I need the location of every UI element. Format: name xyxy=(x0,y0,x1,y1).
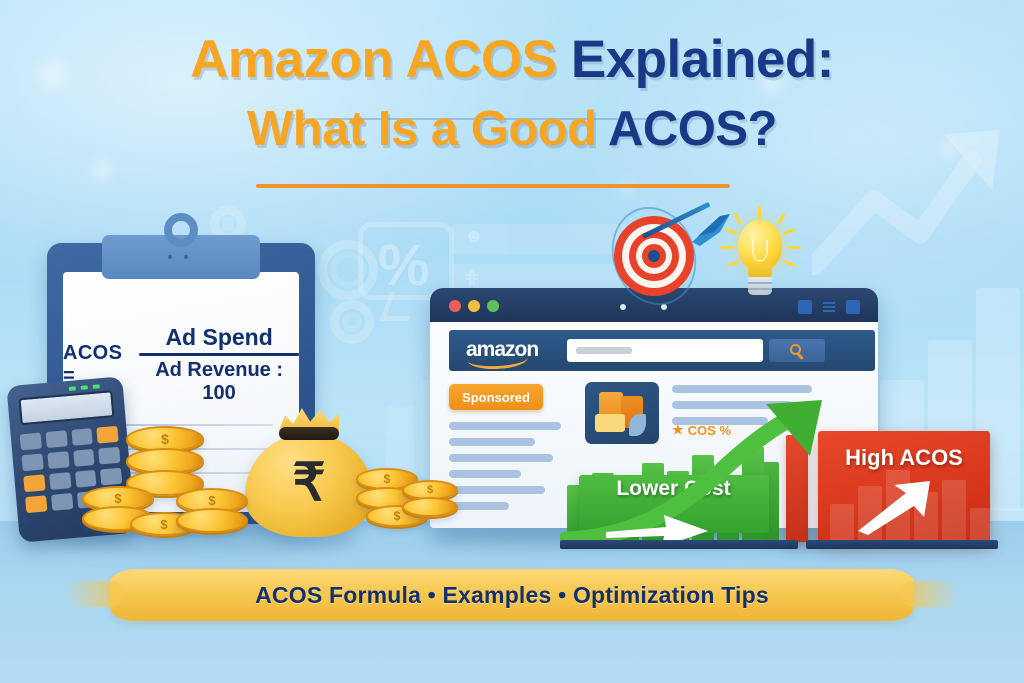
coin-icon xyxy=(176,508,248,533)
menu-glyph xyxy=(822,300,836,314)
placeholder-text-line xyxy=(449,454,553,462)
placeholder-text-line xyxy=(449,470,521,478)
calculator-key xyxy=(100,468,122,486)
bulb-filament xyxy=(752,240,768,262)
calculator-key xyxy=(25,495,47,513)
amazon-header: amazon xyxy=(449,330,875,371)
search-icon xyxy=(790,344,801,355)
calculator-key xyxy=(20,433,42,451)
calculator-key xyxy=(97,426,119,444)
formula-fraction: Ad Spend Ad Revenue : 100 xyxy=(139,324,299,405)
search-button[interactable] xyxy=(769,339,825,362)
money-bag-icon: ₹ xyxy=(245,405,373,537)
maximize-icon[interactable] xyxy=(487,300,499,312)
target-bullseye xyxy=(648,250,660,262)
lightbulb-icon xyxy=(729,220,791,304)
percent-symbol-motif: % xyxy=(378,232,430,299)
bottom-banner: ACOS Formula • Examples • Optimization T… xyxy=(110,569,914,621)
poster-canvas: % ☻ ⋕ Amazon ACOS Explained: What Is a G… xyxy=(0,0,1024,683)
high-acos-label: High ACOS xyxy=(818,445,990,471)
headline-line1-rest: Explained: xyxy=(571,30,834,89)
toolbar-menu-icon[interactable] xyxy=(822,300,836,314)
calculator-key xyxy=(47,451,69,469)
calculator-key xyxy=(23,474,45,492)
close-icon[interactable] xyxy=(449,300,461,312)
search-placeholder-bar xyxy=(576,347,632,354)
calculator-key xyxy=(75,470,97,488)
banner-text: ACOS Formula • Examples • Optimization T… xyxy=(110,569,914,621)
bulb-base xyxy=(748,277,772,295)
headline-block: Amazon ACOS Explained: What Is a Good AC… xyxy=(0,32,1024,155)
red-inner-bar xyxy=(942,480,966,542)
bokeh-dot xyxy=(92,160,112,180)
avatar-glyph-motif: ☻ xyxy=(464,226,484,248)
headline-underline xyxy=(256,184,730,188)
toolbar-square-icon[interactable] xyxy=(846,300,860,314)
calculator-key xyxy=(71,428,93,446)
bulb-ray xyxy=(720,246,734,249)
calculator-key xyxy=(21,453,43,471)
amazon-smile-icon xyxy=(468,357,528,370)
headline-line-1: Amazon ACOS Explained: xyxy=(0,32,1024,88)
headline-line2-highlight: What Is a Good xyxy=(247,102,597,156)
search-input[interactable] xyxy=(567,339,763,362)
placeholder-text-line xyxy=(449,502,509,510)
clipboard-ring xyxy=(164,213,198,247)
placeholder-text-line xyxy=(672,385,812,393)
calculator-led xyxy=(81,385,88,390)
formula-numerator: Ad Spend xyxy=(139,324,299,353)
calculator-key xyxy=(49,472,71,490)
clamp-dot xyxy=(168,255,172,259)
calculator-display xyxy=(18,390,114,425)
titlebar-dot xyxy=(620,304,626,310)
high-acos-arrow-icon xyxy=(854,479,934,535)
toolbar-square-icon[interactable] xyxy=(798,300,812,314)
placeholder-text-line xyxy=(449,438,535,446)
red-inner-bar xyxy=(970,508,990,542)
placeholder-text-line xyxy=(449,422,561,430)
headline-line1-highlight: Amazon ACOS xyxy=(190,30,557,89)
minimize-icon[interactable] xyxy=(468,300,480,312)
clamp-dot xyxy=(184,255,188,259)
calculator-key xyxy=(73,449,95,467)
chart-plinth xyxy=(806,540,998,549)
calculator-key xyxy=(45,430,67,448)
money-bag-tie xyxy=(279,427,339,440)
sponsored-badge: Sponsored xyxy=(449,384,543,410)
bulb-ray xyxy=(727,260,740,268)
calculator-key xyxy=(51,493,73,511)
bulb-ray xyxy=(787,246,801,249)
headline-line-2: What Is a Good ACOS? xyxy=(0,104,1024,155)
coin-icon xyxy=(402,497,458,517)
placeholder-text-line xyxy=(449,486,545,494)
high-acos-panel: High ACOS xyxy=(818,431,990,542)
gear-icon xyxy=(318,240,378,300)
currency-symbol: ₹ xyxy=(245,457,373,509)
sliders-glyph-motif: ⋕ xyxy=(464,266,480,289)
gear-icon xyxy=(330,300,374,344)
red-inner-bar xyxy=(830,504,854,542)
formula-denominator: Ad Revenue : 100 xyxy=(139,356,299,405)
chart-plinth xyxy=(560,540,798,549)
calculator-led xyxy=(93,384,100,389)
target-arrow-fletching xyxy=(690,212,732,246)
bulb-ray xyxy=(758,206,761,220)
headline-line2-rest: ACOS? xyxy=(608,102,777,156)
calculator-led xyxy=(69,386,76,391)
calculator-key xyxy=(98,447,120,465)
